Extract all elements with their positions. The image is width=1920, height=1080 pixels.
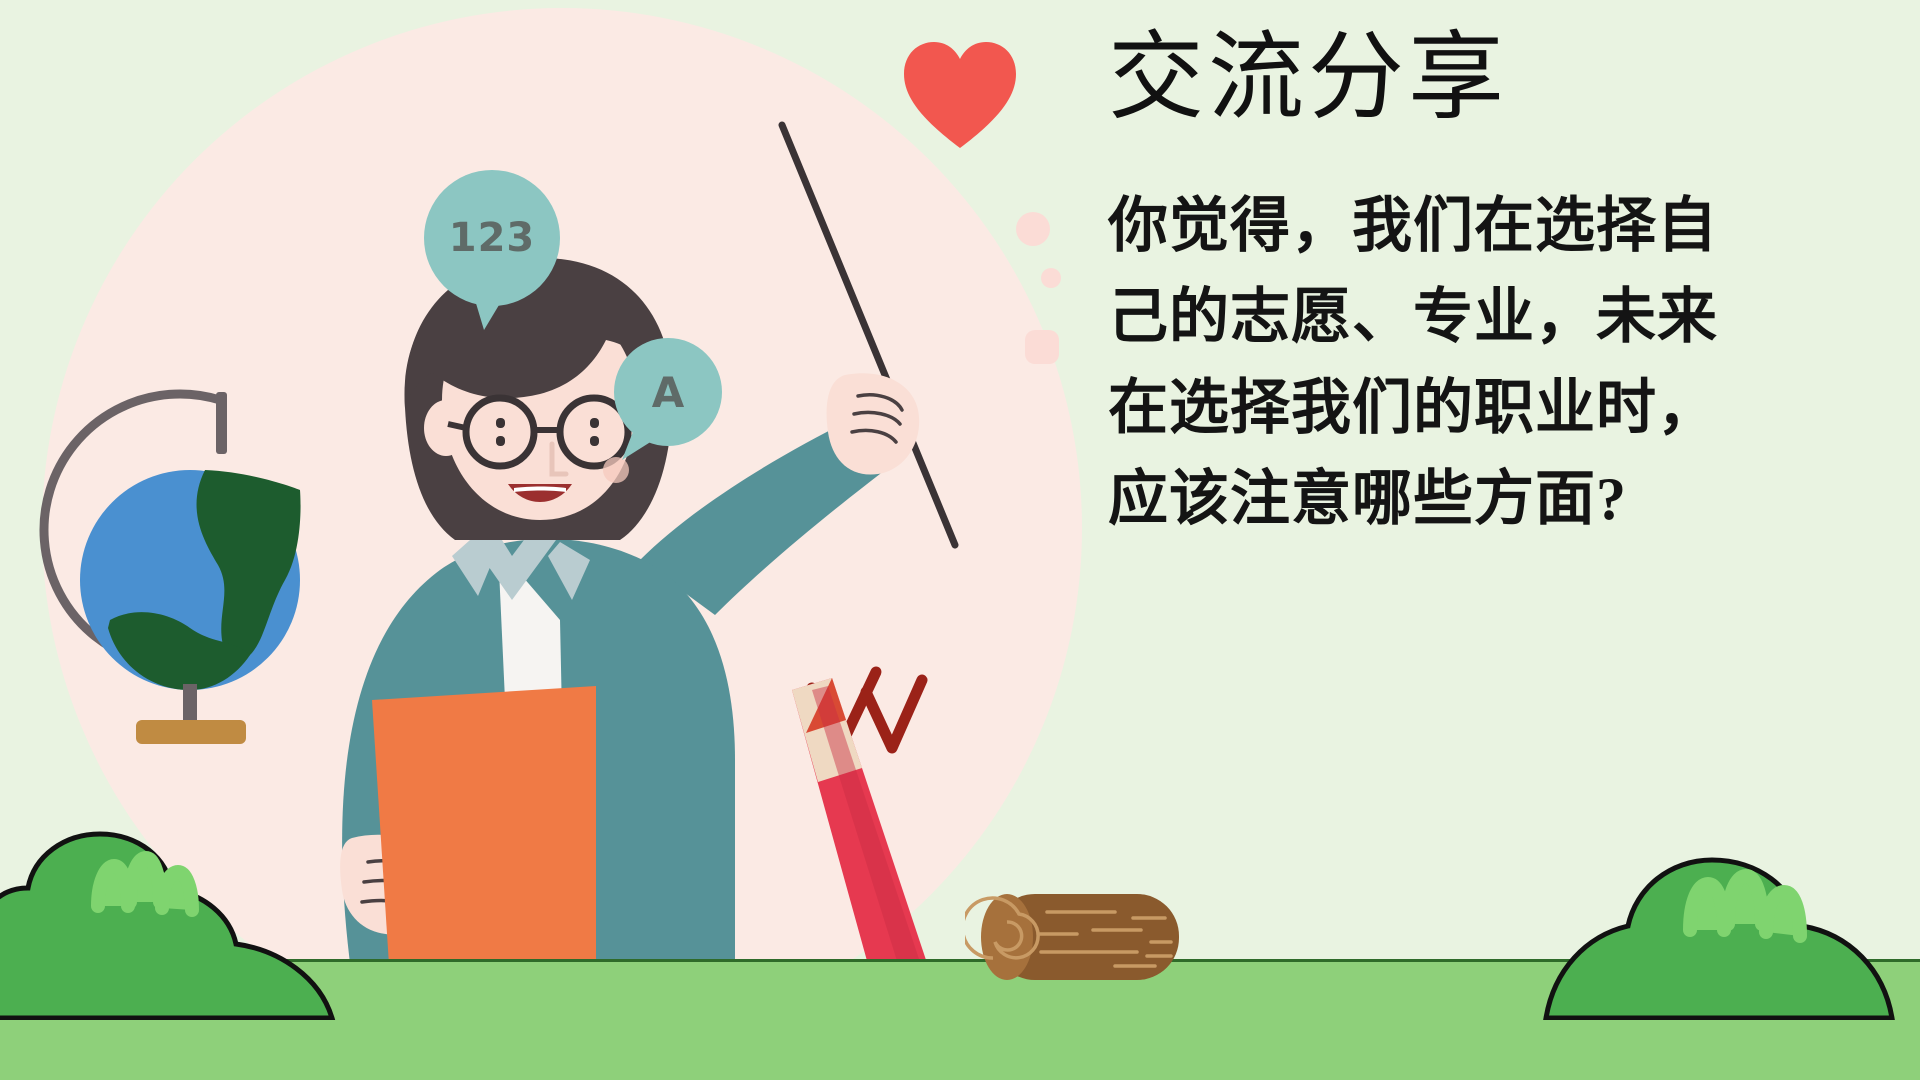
slide-canvas: 123 A 交流分享 你觉得，我们在选择自 己的志愿、专业，未来 在选择我们的职… xyxy=(0,0,1920,1080)
page-title: 交流分享 xyxy=(1108,28,1868,129)
letter-bubble-label: A xyxy=(614,338,722,446)
raised-hand xyxy=(827,373,920,474)
body-line-4: 应该注意哪些方面? xyxy=(1108,454,1848,545)
letter-bubble-label-wrap: A xyxy=(614,338,722,446)
body-line-3: 在选择我们的职业时， xyxy=(1108,363,1848,454)
bush-right xyxy=(1540,790,1920,1020)
decor-dot-2 xyxy=(1041,268,1061,288)
globe-icon xyxy=(44,392,301,744)
heart-icon xyxy=(900,40,1020,152)
numbers-bubble-label-wrap: 123 xyxy=(424,170,560,306)
decor-dot-1 xyxy=(1016,212,1050,246)
bush-left xyxy=(0,810,400,1020)
decor-dot-3 xyxy=(1025,330,1059,364)
body-paragraph: 你觉得，我们在选择自 己的志愿、专业，未来 在选择我们的职业时， 应该注意哪些方… xyxy=(1108,181,1848,546)
body-line-1: 你觉得，我们在选择自 xyxy=(1108,181,1848,272)
wooden-log xyxy=(965,882,1205,992)
numbers-bubble-label: 123 xyxy=(424,170,560,306)
right-text-column: 交流分享 你觉得，我们在选择自 己的志愿、专业，未来 在选择我们的职业时， 应该… xyxy=(1108,28,1868,546)
body-line-2: 己的志愿、专业，未来 xyxy=(1108,272,1848,363)
